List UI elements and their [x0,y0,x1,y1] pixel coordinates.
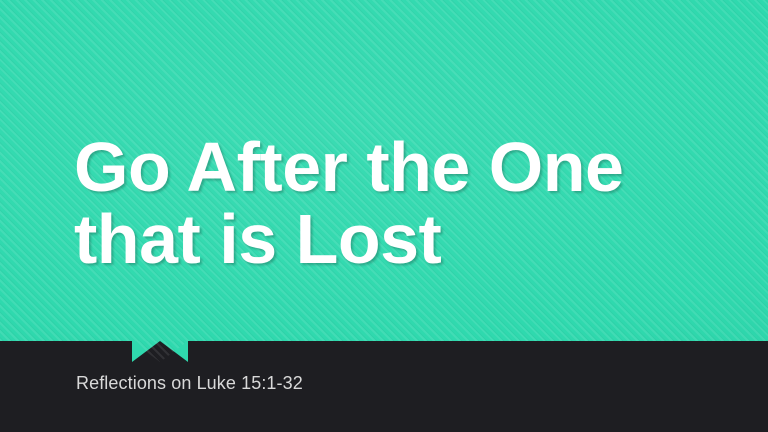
chevron-notch-icon [132,341,188,362]
slide-subtitle: Reflections on Luke 15:1-32 [76,372,303,394]
slide-title: Go After the One that is Lost [74,131,714,275]
title-slide: Go After the One that is Lost Reflection… [0,0,768,432]
